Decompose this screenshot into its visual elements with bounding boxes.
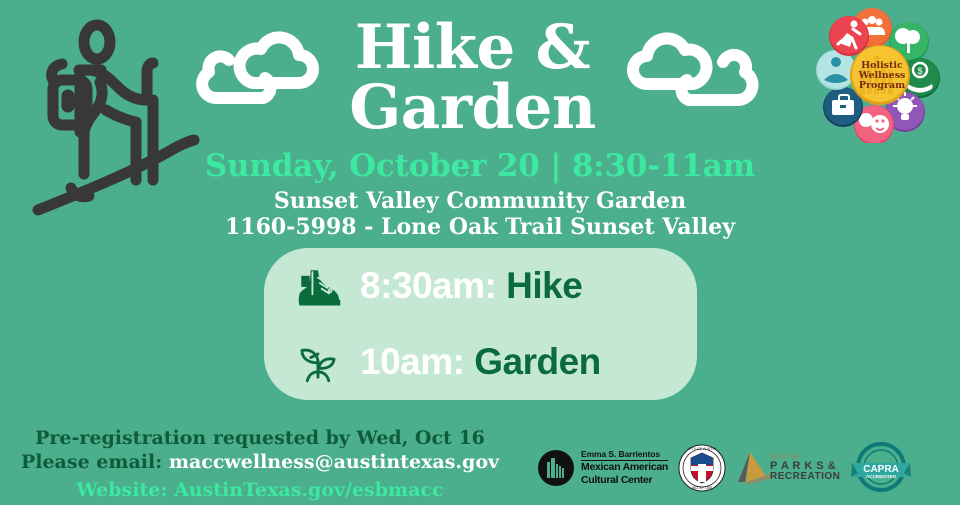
email-line: Please email: maccwellness@austintexas.g… <box>0 451 520 475</box>
svg-text:CITY OF AUSTIN: CITY OF AUSTIN <box>688 447 716 451</box>
schedule-row-garden: 10am: Garden <box>264 324 697 400</box>
flyer-canvas: $ <box>0 0 960 503</box>
schedule-time-hike: 8:30am: <box>360 265 496 306</box>
venue-name: Sunset Valley Community Garden <box>0 188 960 214</box>
schedule-card: 8:30am: Hike 10am: Garden <box>264 248 697 400</box>
city-of-austin-seal-icon: CITY OF AUSTIN INCORP 1839 <box>678 444 726 492</box>
austin-parks-recreation-icon: AUSTIN P A R K S & RECREATION <box>736 448 840 488</box>
schedule-time-garden: 10am: <box>360 341 464 382</box>
parks-line-3: RECREATION <box>770 472 840 482</box>
email-address[interactable]: maccwellness@austintexas.gov <box>169 451 499 473</box>
venue-address: 1160-5998 - Lone Oak Trail Sunset Valley <box>0 214 960 240</box>
cloud-icon <box>623 26 768 131</box>
website-line[interactable]: Website: AustinTexas.gov/esbmacc <box>0 475 520 505</box>
capra-accredited-badge-icon: CAPRA ACCREDITED <box>850 441 912 495</box>
cloud-icon <box>193 26 323 131</box>
schedule-activity-hike: Hike <box>506 265 582 306</box>
venue-block: Sunset Valley Community Garden 1160-5998… <box>0 188 960 241</box>
footer-registration: Pre-registration requested by Wed, Oct 1… <box>0 427 520 505</box>
esb-line-1: Emma S. Barrientos <box>581 450 668 461</box>
esb-macc-logo: Emma S. Barrientos Mexican American Cult… <box>538 450 668 486</box>
email-label: Please email: <box>21 451 162 473</box>
schedule-row-hike: 8:30am: Hike <box>264 248 697 324</box>
capra-line-2: ACCREDITED <box>866 474 897 479</box>
hiking-boot-icon <box>290 260 346 312</box>
esb-macc-text: Emma S. Barrientos Mexican American Cult… <box>581 450 668 486</box>
event-datetime: Sunday, October 20 | 8:30-11am <box>0 148 960 184</box>
partner-logos: Emma S. Barrientos Mexican American Cult… <box>538 438 952 498</box>
esb-macc-circle-icon <box>538 450 574 486</box>
title-block: Hike & Garden <box>0 18 960 138</box>
esb-line-2: Mexican American <box>581 462 668 473</box>
title-line-1: Hike & <box>323 18 623 78</box>
schedule-activity-garden: Garden <box>474 341 601 382</box>
schedule-text-hike: 8:30am: Hike <box>360 265 582 307</box>
title-words: Hike & Garden <box>323 18 623 138</box>
svg-text:INCORP 1839: INCORP 1839 <box>692 486 713 490</box>
prereg-text: Pre-registration requested by Wed, Oct 1… <box>0 427 520 451</box>
title-line-2: Garden <box>323 78 623 138</box>
esb-line-3: Cultural Center <box>581 475 668 486</box>
sprout-plant-icon <box>290 336 346 388</box>
schedule-text-garden: 10am: Garden <box>360 341 601 383</box>
